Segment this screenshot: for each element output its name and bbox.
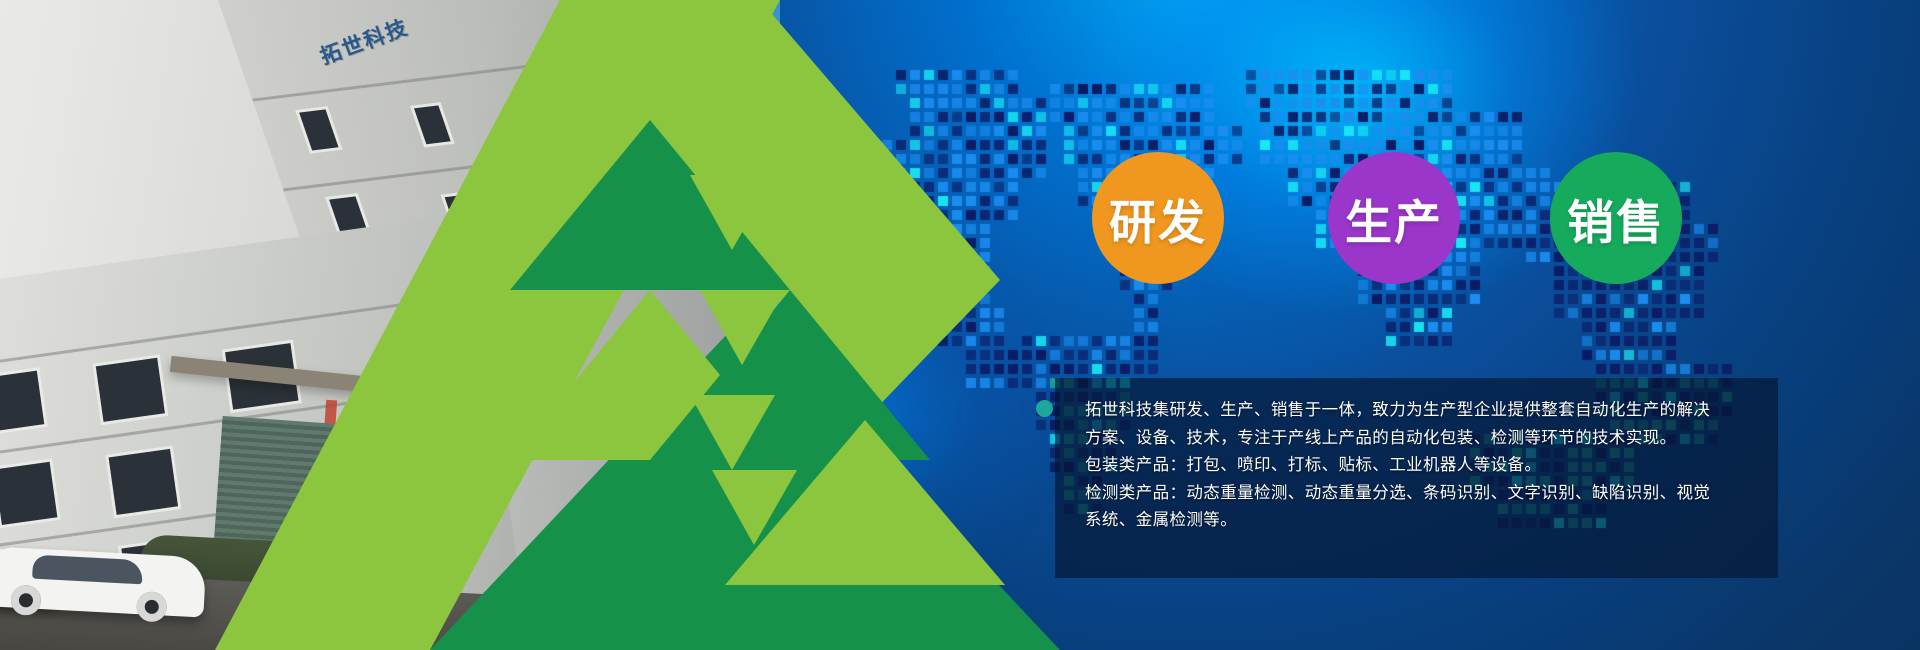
description-line: 方案、设备、技术，专注于产线上产品的自动化包装、检测等环节的技术实现。 — [1085, 424, 1752, 452]
description-line: 检测类产品：动态重量检测、动态重量分选、条码识别、文字识别、缺陷识别、视觉 — [1085, 479, 1752, 507]
badge-circle-sales-label: 销售 — [1567, 184, 1665, 253]
teal-accent-dot — [1036, 400, 1053, 417]
badge-circle-sales[interactable]: 销售 — [1550, 152, 1682, 284]
photo-edge-shading — [0, 0, 780, 650]
company-hero-banner: 拓世科技 — [0, 0, 1920, 650]
description-line: 系统、金属检测等。 — [1085, 506, 1752, 534]
badge-circle-rd[interactable]: 研发 — [1092, 152, 1224, 284]
description-line: 包装类产品：打包、喷印、打标、贴标、工业机器人等设备。 — [1085, 451, 1752, 479]
factory-building-photo: 拓世科技 — [0, 0, 780, 650]
badge-circle-rd-label: 研发 — [1109, 184, 1207, 253]
badge-circle-production-label: 生产 — [1345, 184, 1443, 253]
description-line: 拓世科技集研发、生产、销售于一体，致力为生产型企业提供整套自动化生产的解决 — [1085, 396, 1752, 424]
badge-circle-production[interactable]: 生产 — [1328, 152, 1460, 284]
company-description-panel: 拓世科技集研发、生产、销售于一体，致力为生产型企业提供整套自动化生产的解决 方案… — [1055, 378, 1778, 578]
